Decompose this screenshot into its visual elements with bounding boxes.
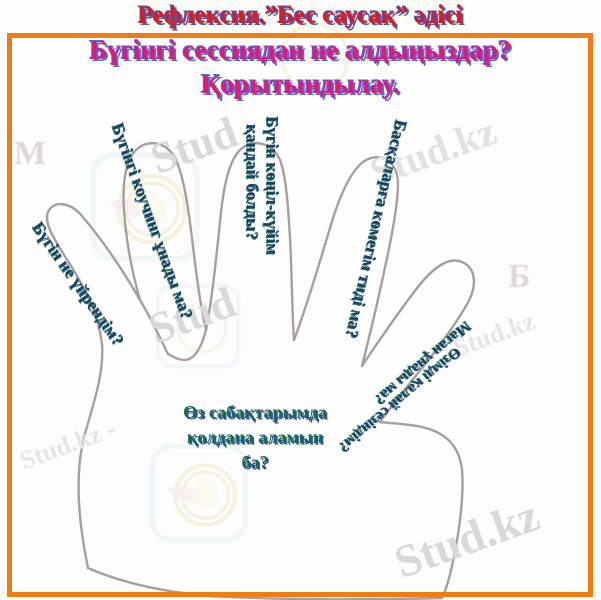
palm-text-line1: Өз сабақтарымда <box>150 400 360 425</box>
finger-label-middle-line2: қандай болды? <box>242 124 262 240</box>
palm-text: Өз сабақтарымда қолдана аламын ба? <box>150 400 360 475</box>
palm-text-line2: қолдана аламын <box>150 425 360 450</box>
palm-text-line3: ба? <box>150 450 360 475</box>
slide-canvas: М Б <box>0 0 601 600</box>
finger-label-middle-line1: Бүгін көңіл-күйім <box>262 116 282 255</box>
